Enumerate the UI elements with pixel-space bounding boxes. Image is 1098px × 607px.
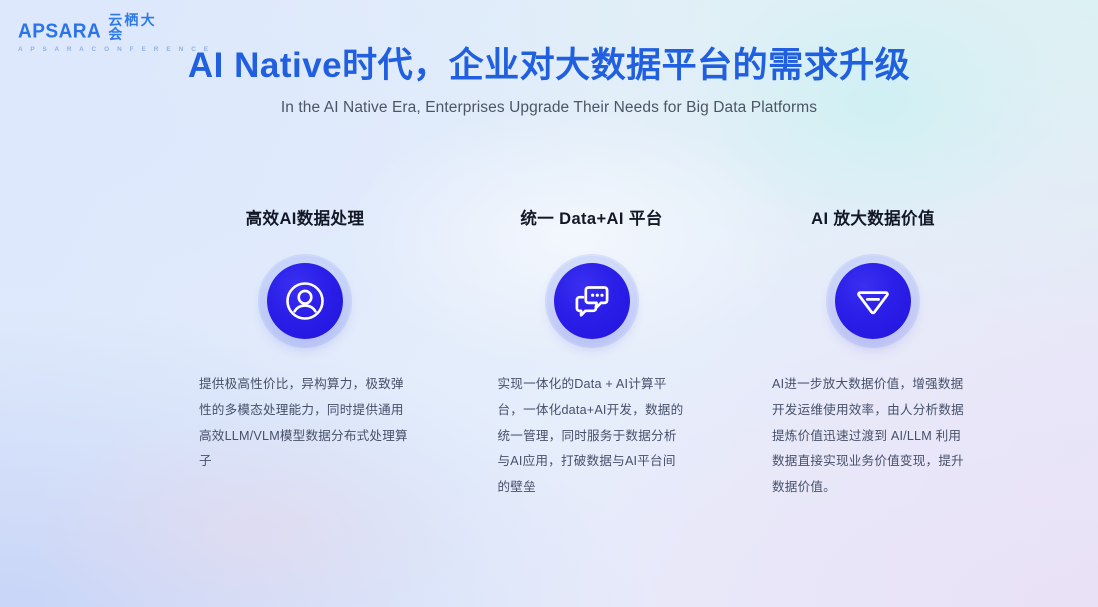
logo-wordmark-row: APSARA 云栖大会 — [18, 13, 168, 41]
column-description: 实现一体化的Data + AI计算平台，一体化data+AI开发，数据的统一管理… — [498, 372, 686, 501]
user-avatar-icon — [267, 263, 343, 339]
icon-halo — [258, 254, 352, 348]
column-description: AI进一步放大数据价值，增强数据开发运维使用效率，由人分析数据提炼价值迅速过渡到… — [772, 372, 974, 501]
chat-bubbles-icon — [554, 263, 630, 339]
logo-latin-wordmark: APSARA — [18, 21, 101, 42]
column-description: 提供极高性价比，异构算力，极致弹性的多模态处理能力，同时提供通用高效LLM/VL… — [199, 372, 411, 475]
logo-chinese-wordmark: 云栖大会 — [108, 13, 168, 41]
feature-column-unified-data-ai-platform: 统一 Data+AI 平台 实现一体化的Data + AI计算平台，一体化dat… — [467, 205, 717, 501]
page-subtitle: In the AI Native Era, Enterprises Upgrad… — [0, 99, 1098, 117]
feature-columns: 高效AI数据处理 提供极高性价比，异构算力，极致弹性的多模态处理能力，同时提供通… — [175, 205, 998, 501]
diamond-gem-icon — [835, 263, 911, 339]
column-heading: AI 放大数据价值 — [811, 205, 935, 229]
feature-column-ai-amplifies-data-value: AI 放大数据价值 AI进一步放大数据价值，增强数据开发运维使用效率，由人分析数… — [748, 205, 998, 501]
icon-halo — [826, 254, 920, 348]
slide-header: AI Native时代，企业对大数据平台的需求升级 In the AI Nati… — [0, 44, 1098, 117]
column-heading: 统一 Data+AI 平台 — [520, 205, 662, 229]
feature-column-efficient-ai-data-processing: 高效AI数据处理 提供极高性价比，异构算力，极致弹性的多模态处理能力，同时提供通… — [175, 205, 435, 475]
icon-halo — [545, 254, 639, 348]
column-heading: 高效AI数据处理 — [246, 205, 365, 229]
page-title: AI Native时代，企业对大数据平台的需求升级 — [0, 44, 1098, 89]
